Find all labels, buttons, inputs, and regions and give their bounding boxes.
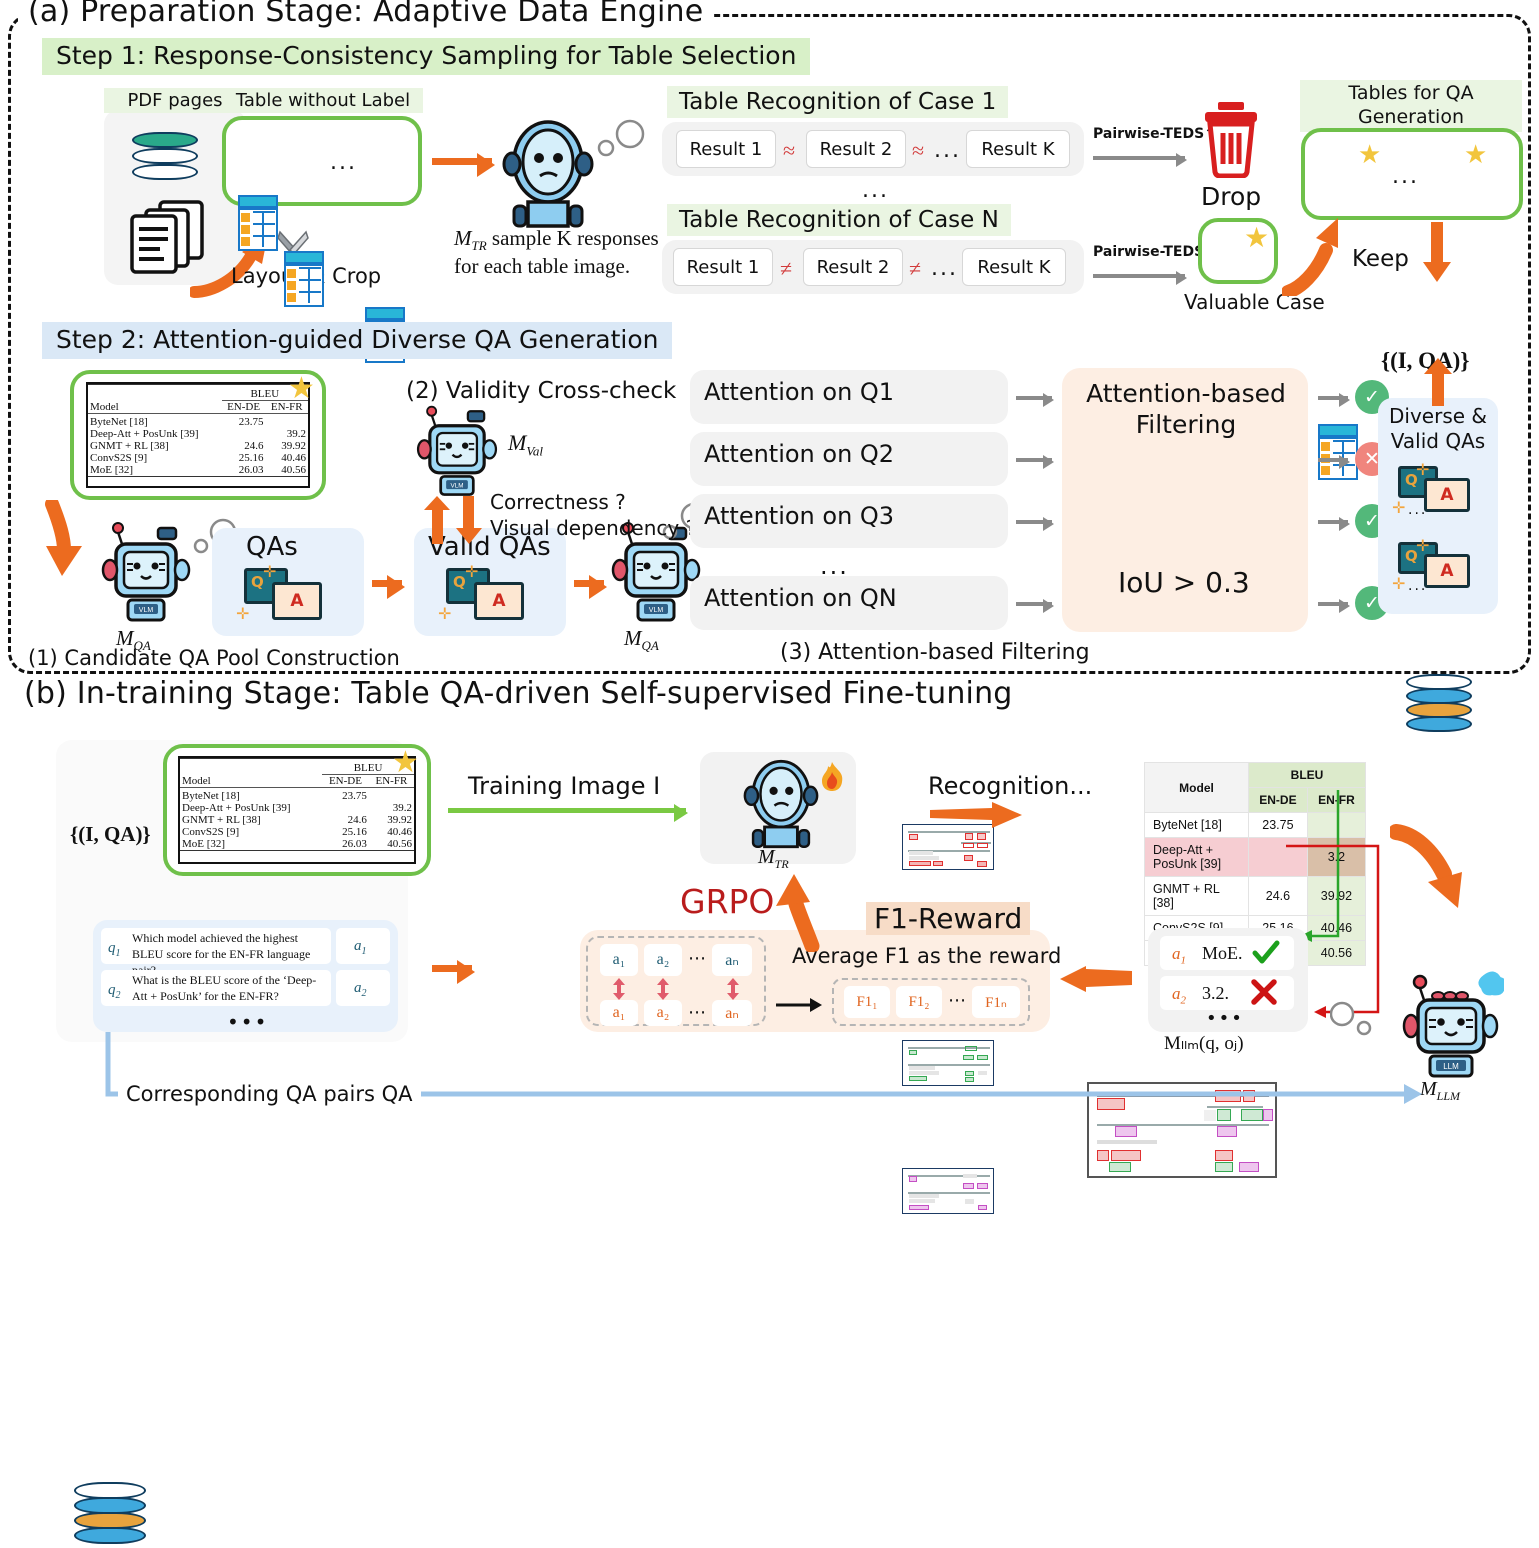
f1-item-1: F1₁ [844,986,890,1018]
svg-text:LLM: LLM [1443,1062,1459,1071]
table-cell: ConvS2S [9] [88,452,222,464]
caseN-result-k: Result K [962,248,1066,286]
table-cell: 39.2 [266,428,308,440]
svg-text:VLM: VLM [139,607,154,614]
table-cell: MoE [32] [88,464,222,477]
iou-label: IoU > 0.3 [1118,566,1250,599]
cross-icon [1250,978,1278,1006]
qa-answer-bubble: A [1424,554,1470,588]
table-cell: 25.16 [222,452,266,464]
plus-icon: ✛ [1392,498,1405,517]
mtr-note-line2: for each table image. [454,254,630,279]
fire-icon [818,760,846,792]
group-top-a1: a₁ [600,944,638,976]
qa-q1-id: q1 [108,940,121,959]
qa-q2-id: q2 [108,982,121,1001]
mval-robot-icon: VLM [414,404,500,500]
arrow-grpo-up [770,872,834,952]
approx-symbol: ≈ [783,138,795,164]
mini-table-icon [238,195,278,251]
recognition-label: Recognition... [928,772,1092,800]
group-bottom-an: aₙ [712,1000,752,1026]
arrow-to-valuable [1093,274,1185,278]
mval-label: MVal [508,430,543,459]
plus-icon: ✛ [1392,574,1405,593]
correctness-question: Correctness ? [490,490,626,514]
table-cell [266,416,308,428]
teds-up-label: Pairwise-TEDS↑ [1093,126,1216,142]
table-cell: 23.75 [322,790,369,802]
table-cell: ByteNet [18] [1145,813,1249,838]
filtering-title-line1: Attention-based [1082,378,1290,409]
keep-arrow [1282,216,1352,296]
panel-a-title: (a) Preparation Stage: Adaptive Data Eng… [18,0,713,29]
qa-answer-bubble: A [272,582,322,620]
f1-item-2: F1₂ [896,986,942,1018]
database-icon [1406,674,1472,734]
arrow-up-validity [424,496,450,544]
mtr-label-b: MTR [758,846,789,872]
paper-table-b: Model BLEU EN-DE EN-FR ByteNet [18]23.75… [178,756,416,864]
attention-q2-label: Attention on Q2 [704,440,894,468]
table-cell: 40.56 [266,464,308,477]
arrow-filter-verdict-1 [1318,396,1348,400]
diverse-valid-line2: Valid QAs [1380,429,1496,454]
star-icon: ★ [1358,142,1381,168]
table-col-model: Model [180,762,322,788]
table-cell: Deep-Att + PosUnk [39] [1145,838,1249,877]
table-cell: ConvS2S [9] [180,826,322,838]
answer-a1-text: MoE. [1202,943,1243,964]
table-cell: 26.03 [322,838,369,851]
table-cell: 40.46 [369,826,414,838]
plus-icon: ✛ [1416,460,1429,479]
noteq-symbol: ≠ [780,256,792,282]
average-f1-label: Average F1 as the reward [792,944,1061,968]
restab-col-model: Model [1145,763,1249,813]
table-cell: GNMT + RL [38] [88,440,222,452]
check-icon [1252,940,1280,966]
arrow-up-to-db [1424,358,1452,406]
arrow-to-mllm [1390,824,1480,914]
panel-b-title: (b) In-training Stage: Table QA-driven S… [14,676,1023,711]
double-arrow-icon [726,978,740,1000]
arrow-to-mqa-robot [38,500,102,582]
trash-icon [1200,100,1262,178]
table-cell: 24.6 [322,814,369,826]
arrow-to-f1 [776,996,822,1014]
arrow-q2-to-filter [1016,458,1052,462]
double-arrow-icon [656,978,670,1000]
arrow-down-to-db [1423,222,1451,284]
drop-label: Drop [1201,182,1261,211]
answer-a2-id: a2 [1172,984,1186,1006]
table-cell: 39.2 [369,802,414,814]
table-without-label-label: Table without Label [223,88,423,113]
arrow-filter-verdict-4 [1318,602,1348,606]
filtering-title: Attention-based Filtering [1082,378,1290,441]
mval-symbol: M [508,430,526,455]
caseN-ellipsis: ... [931,256,958,281]
arrow-filter-verdict-3 [1318,520,1348,524]
table-cell: 40.46 [266,452,308,464]
arrow-to-mtr-robot [432,158,492,165]
group-top-ellipsis: ⋯ [688,948,708,969]
table-cell: 24.6 [222,440,266,452]
thought-bubbles-icon [596,118,652,158]
table-cell [369,790,414,802]
case1-result-2: Result 2 [806,130,906,168]
substep3-label: (3) Attention-based Filtering [780,640,1090,665]
keep-label: Keep [1352,246,1409,272]
f1-reward-label: F1-Reward [866,902,1030,935]
tables-ellipsis: ... [330,150,357,175]
plus-icon: ✛ [236,604,249,623]
filtering-title-line2: Filtering [1082,409,1290,440]
qa-answer-bubble: A [474,582,524,620]
group-bottom-ellipsis: ⋯ [688,1002,708,1023]
mval-subscript: Val [526,443,543,458]
tables-without-label-box [222,116,422,206]
table-cell: Deep-Att + PosUnk [39] [180,802,322,814]
plus-icon: ✛ [438,604,451,623]
table-cell [222,428,266,440]
answers-ellipsis: ••• [1206,1008,1244,1029]
corresponding-qa-label: Corresponding QA pairs QA [118,1082,421,1106]
arrow-to-drop [1093,156,1185,160]
group-bottom-a2: a₂ [644,1000,682,1026]
case1-result-1: Result 1 [676,130,776,168]
table-cell: MoE [32] [180,838,322,851]
step2-heading: Step 2: Attention-guided Diverse QA Gene… [42,322,672,359]
arrow-down-validity [456,496,482,544]
qa-q2-text: What is the BLEU score of the ‘Deep-Att … [132,972,326,1004]
plus-icon: ✛ [263,562,276,581]
substep2-label: (2) Validity Cross-check [406,378,676,404]
attention-thumbnail-qn [902,1168,994,1214]
arrow-training-image [448,808,686,813]
db-label-b: {(I, QA)} [70,822,151,847]
attention-q3-label: Attention on Q3 [704,502,894,530]
table-cell: GNMT + RL [38] [1145,877,1249,916]
caseN-result-2: Result 2 [803,248,903,286]
step1-heading: Step 1: Response-Consistency Sampling fo… [42,38,810,75]
qas-label: QAs [246,532,298,562]
tables-qa-ellipsis: ... [1392,164,1419,189]
mtr-sample-note: MTR sample K responses [454,226,659,254]
mqa-robot-icon: VLM [100,520,192,626]
noteq-symbol: ≠ [909,256,921,282]
qa-ellipsis: ... [1408,578,1427,594]
training-image-label: Training Image I [468,772,660,800]
double-arrow-icon [612,978,626,1000]
tables-qa-line2: Generation [1310,106,1512,130]
answer-a2-text: 3.2. [1202,983,1229,1004]
f1-items-ellipsis: ⋯ [948,990,968,1011]
qa-pairs-ellipsis: ••• [227,1010,268,1034]
mqa-symbol: M [624,626,642,650]
arrow-qas-to-valid [372,580,402,587]
case1-ellipsis: ... [934,138,961,163]
plus-icon: ✛ [1416,536,1429,555]
arrow-q3-to-filter [1016,520,1052,524]
grpo-label: GRPO [680,882,774,921]
arrow-qa-to-group [432,965,472,972]
svg-text:VLM: VLM [649,607,664,614]
mllm-label: MLLM [1420,1078,1460,1104]
mtr-robot-icon [500,118,596,230]
substep1-label: (1) Candidate QA Pool Construction [28,646,400,670]
table-cell [322,802,369,814]
caseN-title: Table Recognition of Case N [667,204,1011,236]
table-cell: Deep-Att + PosUnk [39] [88,428,222,440]
star-icon: ★ [1464,142,1487,168]
answer-a1-id: a1 [1172,944,1186,966]
tables-qa-line1: Tables for QA [1310,82,1512,106]
mini-table-icon [1318,424,1358,480]
arrow-answers-to-f1 [1060,966,1132,992]
svg-text:VLM: VLM [450,482,463,489]
attention-thumbnail-q1 [902,824,994,870]
table-cell: GNMT + RL [38] [180,814,322,826]
arrow-q1-to-filter [1016,396,1052,400]
table-cell: ByteNet [18] [88,416,222,428]
case1-result-k: Result K [966,130,1070,168]
diverse-valid-line1: Diverse & [1380,404,1496,429]
table-cell: 25.16 [322,826,369,838]
group-top-a2: a₂ [644,944,682,976]
star-icon: ★ [392,748,419,778]
attention-qn-label: Attention on QN [704,584,897,612]
mqa-label-right: MQA [624,626,659,654]
table-cell: ByteNet [18] [180,790,322,802]
diverse-valid-label: Diverse & Valid QAs [1380,404,1496,454]
table-col-model: Model [88,388,222,414]
group-top-an: aₙ [712,944,752,976]
arrow-recognition [930,802,1022,828]
mtr-subscript: TR [472,238,487,253]
table-cell: 39.92 [266,440,308,452]
star-icon: ★ [1244,224,1269,252]
plus-icon: ✛ [465,562,478,581]
table-col-ende: EN-DE [322,775,369,788]
mqa-subscript: QA [642,638,659,653]
table-cell: 40.56 [369,838,414,851]
qa-ellipsis: ... [1408,502,1427,518]
database-icon-b [74,1482,146,1548]
table-cell: 26.03 [222,464,266,477]
group-bottom-a1: a₁ [600,1000,638,1026]
arrow-qn-to-filter [1016,602,1052,606]
table-col-ende: EN-DE [222,401,266,414]
qa-a1-id: a1 [354,938,367,957]
qa-answer-bubble: A [1424,478,1470,512]
approx-symbol: ≈ [912,138,924,164]
restab-span-header: BLEU [1249,763,1366,788]
visual-dependency-question: Visual dependency ? [490,516,696,540]
attention-q1-label: Attention on Q1 [704,378,894,406]
paper-table-a: Model BLEU EN-DE EN-FR ByteNet [18]23.75… [86,382,310,488]
mtr-note-line1: sample K responses [492,226,659,250]
qa-a2-id: a2 [354,980,367,999]
mtr-robot-icon-b [740,758,822,850]
table-cell: 39.92 [369,814,414,826]
tables-qa-label: Tables for QA Generation [1300,80,1522,132]
star-icon: ★ [288,374,315,404]
cases-ellipsis: ... [862,178,889,203]
table-cell: 23.75 [222,416,266,428]
case1-title: Table Recognition of Case 1 [667,86,1008,118]
mini-table-icon [284,251,324,307]
arrow-filter-verdict-2 [1318,458,1348,462]
f1-item-n: F1ₙ [972,986,1020,1018]
caseN-result-1: Result 1 [673,248,773,286]
arrow-valid-to-mqa [574,580,604,587]
mtr-symbol: M [454,226,472,250]
database-icon [132,132,198,194]
